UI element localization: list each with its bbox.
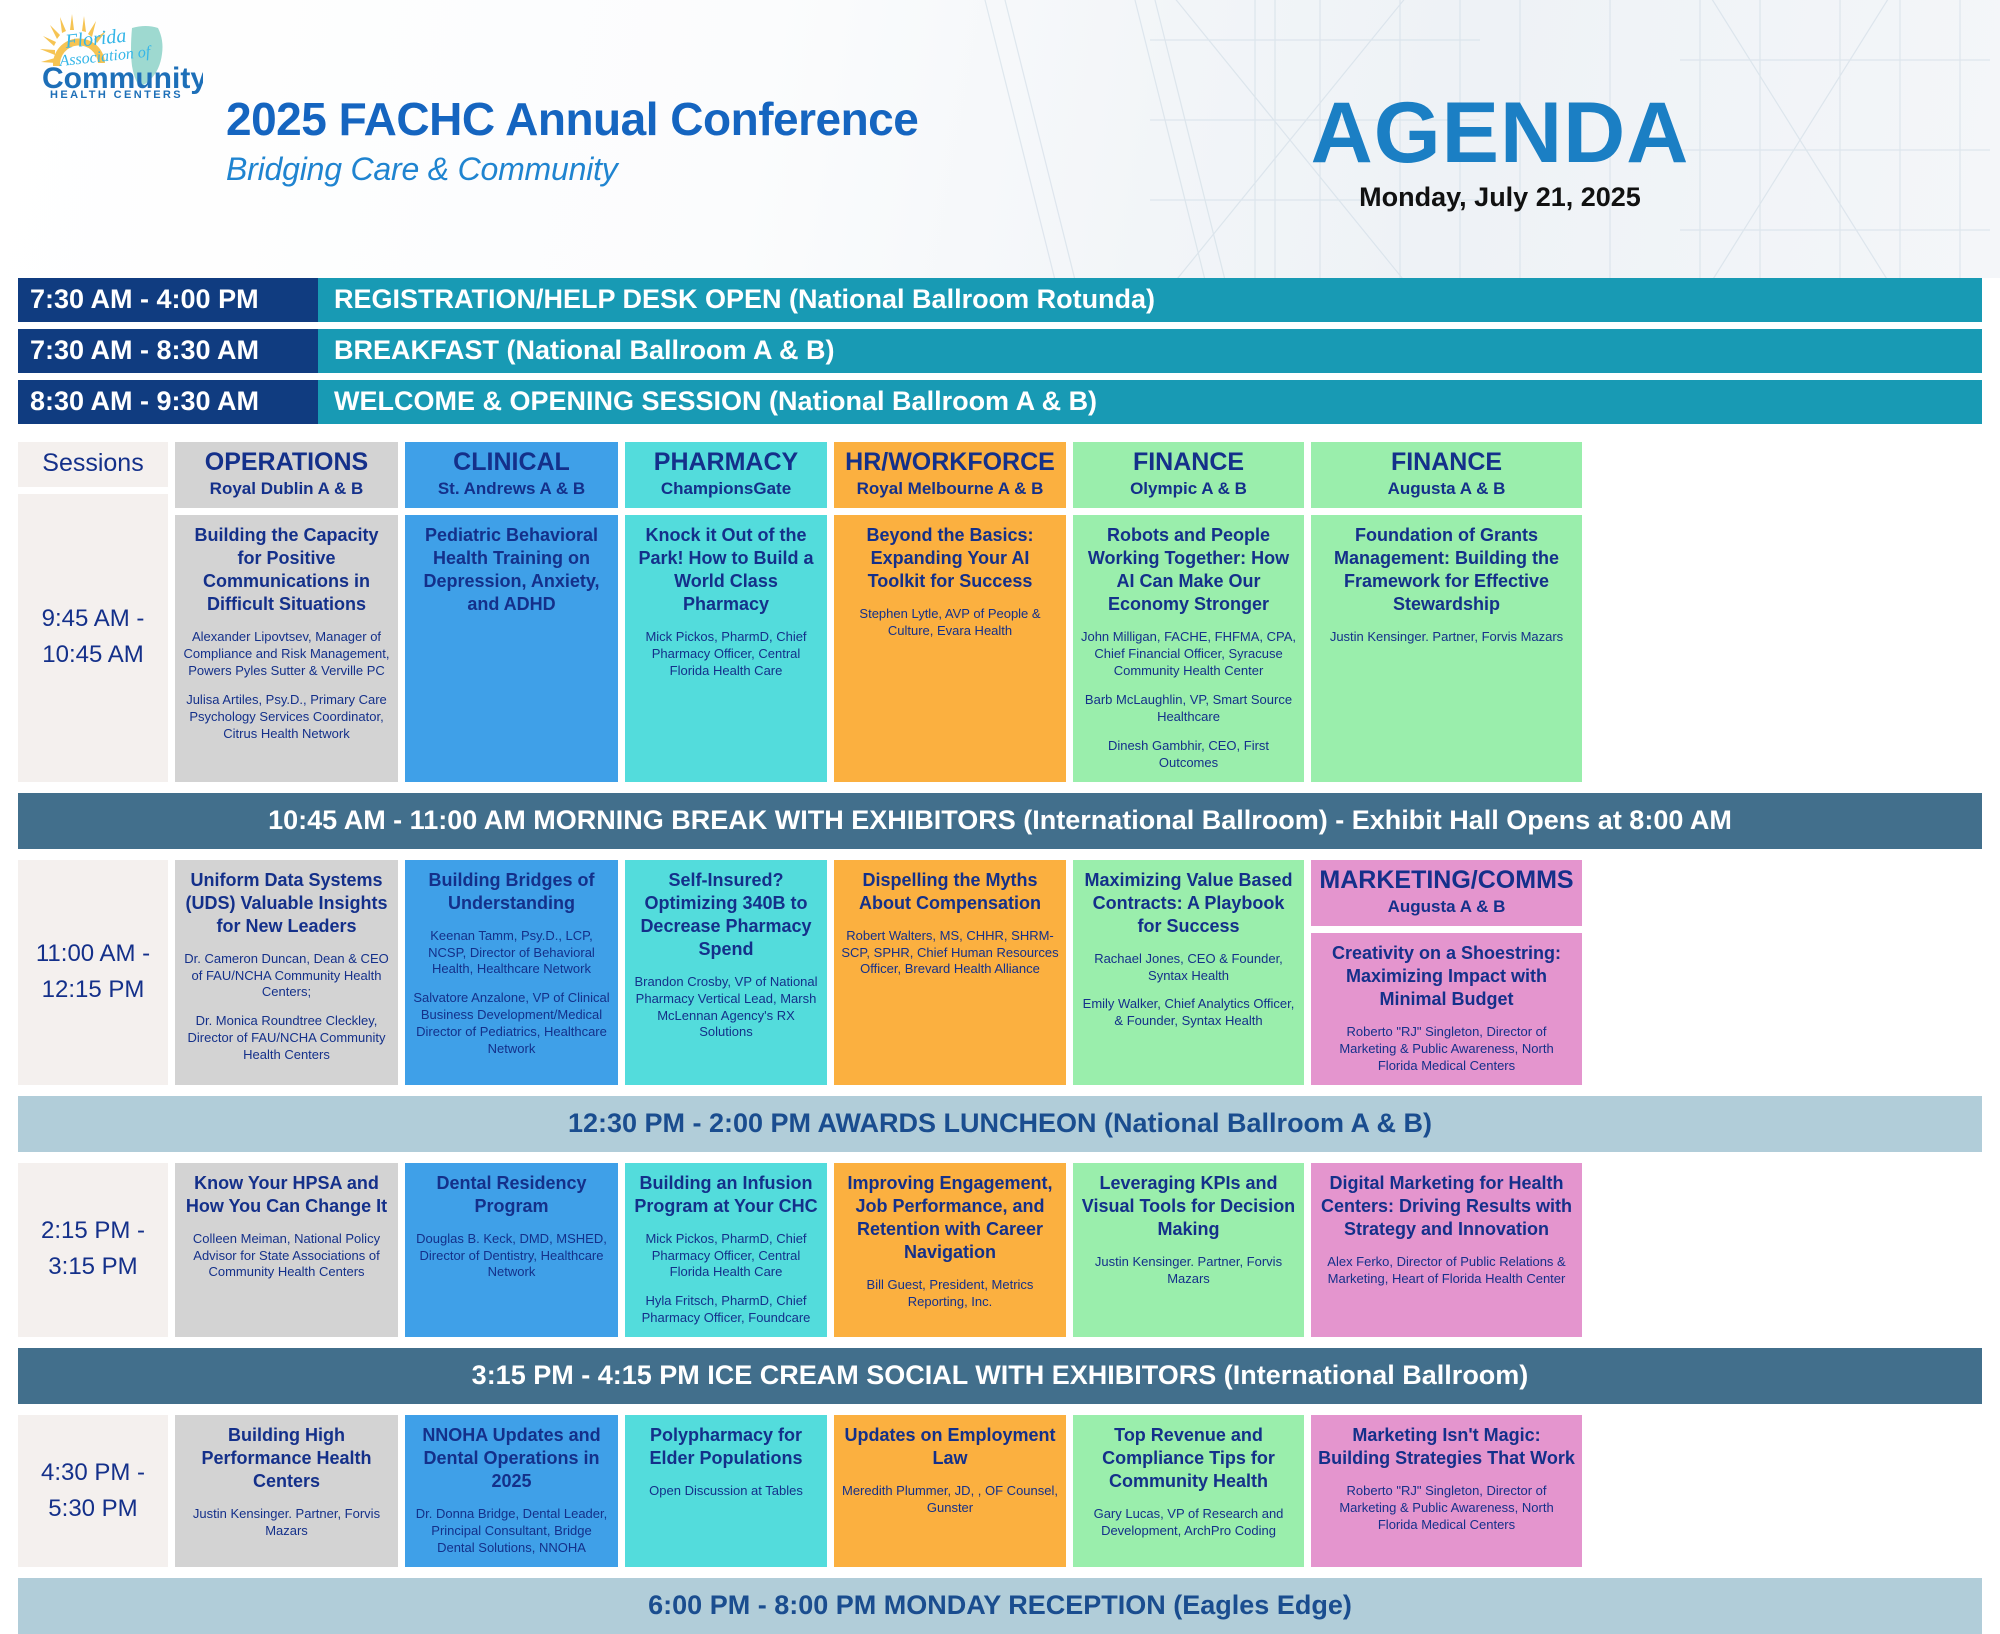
time-slot-1: 9:45 AM - 10:45 AM [18,494,168,782]
session-speaker: Dr. Monica Roundtree Cleckley, Director … [182,1013,391,1064]
session-title: Pediatric Behavioral Health Training on … [412,524,611,616]
track-name: PHARMACY [629,449,823,475]
page-header: Florida Association of Community HEALTH … [0,0,2000,278]
session-card[interactable]: Knock it Out of the Park! How to Build a… [625,515,827,781]
track-name: HR/WORKFORCE [838,449,1062,475]
time-slot-2: 11:00 AM - 12:15 PM [18,860,168,1085]
time-line-1: 4:30 PM - [41,1455,145,1491]
session-speaker: Roberto "RJ" Singleton, Director of Mark… [1318,1483,1575,1534]
track-header-finance-augusta: FINANCE Augusta A & B [1311,442,1582,508]
session-speaker: Colleen Meiman, National Policy Advisor … [182,1231,391,1282]
awards-luncheon-bar: 12:30 PM - 2:00 PM AWARDS LUNCHEON (Nati… [18,1096,1982,1152]
session-speaker: Justin Kensinger. Partner, Forvis Mazars [1318,629,1575,646]
session-speaker: Brandon Crosby, VP of National Pharmacy … [632,974,820,1042]
session-grid-row-4: 4:30 PM - 5:30 PM Building High Performa… [18,1415,1982,1567]
session-speaker: Open Discussion at Tables [632,1483,820,1500]
monday-reception-bar: 6:00 PM - 8:00 PM MONDAY RECEPTION (Eagl… [18,1578,1982,1634]
session-speaker: Stephen Lytle, AVP of People & Culture, … [841,606,1059,640]
session-speaker: Meredith Plummer, JD, , OF Counsel, Guns… [841,1483,1059,1517]
time-slot-3: 2:15 PM - 3:15 PM [18,1163,168,1338]
session-speaker: Mick Pickos, PharmD, Chief Pharmacy Offi… [632,629,820,680]
conference-title: 2025 FACHC Annual Conference [226,95,918,143]
event-bar-registration: 7:30 AM - 4:00 PM REGISTRATION/HELP DESK… [18,278,1982,322]
session-speaker: Alex Ferko, Director of Public Relations… [1318,1254,1575,1288]
session-title: Updates on Employment Law [841,1424,1059,1470]
session-card[interactable]: Beyond the Basics: Expanding Your AI Too… [834,515,1066,781]
time-line-1: 9:45 AM - [42,601,145,637]
session-card[interactable]: Building High Performance Health Centers… [175,1415,398,1567]
fachc-logo: Florida Association of Community HEALTH … [28,8,218,100]
time-line-2: 12:15 PM [42,972,145,1008]
session-title: Self-Insured? Optimizing 340B to Decreas… [632,869,820,961]
session-title: Foundation of Grants Management: Buildin… [1318,524,1575,616]
session-title: Marketing Isn't Magic: Building Strategi… [1318,1424,1575,1470]
event-bar-welcome: 8:30 AM - 9:30 AM WELCOME & OPENING SESS… [18,380,1982,424]
session-card[interactable]: Marketing Isn't Magic: Building Strategi… [1311,1415,1582,1567]
session-card[interactable]: Improving Engagement, Job Performance, a… [834,1163,1066,1338]
fachc-logo-icon: Florida Association of Community HEALTH … [28,8,203,100]
session-speaker: Dr. Cameron Duncan, Dean & CEO of FAU/NC… [182,951,391,1002]
session-speaker: Justin Kensinger. Partner, Forvis Mazars [182,1506,391,1540]
session-speaker: Dr. Donna Bridge, Dental Leader, Princip… [412,1506,611,1557]
track-room: St. Andrews A & B [409,479,614,499]
session-title: NNOHA Updates and Dental Operations in 2… [412,1424,611,1493]
session-title: Robots and People Working Together: How … [1080,524,1297,616]
session-speaker: Mick Pickos, PharmD, Chief Pharmacy Offi… [632,1231,820,1282]
ice-cream-social-bar: 3:15 PM - 4:15 PM ICE CREAM SOCIAL WITH … [18,1348,1982,1404]
track-name: FINANCE [1077,449,1300,475]
track-room: Royal Melbourne A & B [838,479,1062,499]
event-time: 7:30 AM - 4:00 PM [18,278,318,322]
track-room: Augusta A & B [1315,897,1578,917]
session-card[interactable]: Dental Residency Program Douglas B. Keck… [405,1163,618,1338]
session-speaker: Rachael Jones, CEO & Founder, Syntax Hea… [1080,951,1297,985]
time-line-1: 2:15 PM - [41,1213,145,1249]
session-speaker: Emily Walker, Chief Analytics Officer, &… [1080,996,1297,1030]
time-line-2: 3:15 PM [48,1249,137,1285]
session-card[interactable]: Robots and People Working Together: How … [1073,515,1304,781]
track-room: Olympic A & B [1077,479,1300,499]
session-card[interactable]: Top Revenue and Compliance Tips for Comm… [1073,1415,1304,1567]
session-speaker: Robert Walters, MS, CHHR, SHRM-SCP, SPHR… [841,928,1059,979]
session-card[interactable]: Building Bridges of Understanding Keenan… [405,860,618,1085]
track-header-hr-workforce: HR/WORKFORCE Royal Melbourne A & B [834,442,1066,508]
sessions-column-label: Sessions [18,442,168,487]
session-title: Polypharmacy for Elder Populations [632,1424,820,1470]
session-card[interactable]: Creativity on a Shoestring: Maximizing I… [1311,933,1582,1085]
agenda-heading-block: AGENDA Monday, July 21, 2025 [1000,90,2000,213]
track-header-finance-olympic: FINANCE Olympic A & B [1073,442,1304,508]
track-room: Royal Dublin A & B [179,479,394,499]
time-line-2: 10:45 AM [42,637,143,673]
event-bar-breakfast: 7:30 AM - 8:30 AM BREAKFAST (National Ba… [18,329,1982,373]
session-speaker: Douglas B. Keck, DMD, MSHED, Director of… [412,1231,611,1282]
track-header-marketing-comms: MARKETING/COMMS Augusta A & B [1311,860,1582,926]
session-speaker: Justin Kensinger. Partner, Forvis Mazars [1080,1254,1297,1288]
track-header-pharmacy: PHARMACY ChampionsGate [625,442,827,508]
session-card[interactable]: Uniform Data Systems (UDS) Valuable Insi… [175,860,398,1085]
session-title: Top Revenue and Compliance Tips for Comm… [1080,1424,1297,1493]
session-speaker: John Milligan, FACHE, FHFMA, CPA, Chief … [1080,629,1297,680]
session-title: Building Bridges of Understanding [412,869,611,915]
track-header-clinical: CLINICAL St. Andrews A & B [405,442,618,508]
session-speaker: Roberto "RJ" Singleton, Director of Mark… [1318,1024,1575,1075]
session-card[interactable]: Dispelling the Myths About Compensation … [834,860,1066,1085]
session-title: Knock it Out of the Park! How to Build a… [632,524,820,616]
session-card[interactable]: Updates on Employment Law Meredith Plumm… [834,1415,1066,1567]
session-grid-row-2: 11:00 AM - 12:15 PM Uniform Data Systems… [18,860,1982,1085]
session-title: Maximizing Value Based Contracts: A Play… [1080,869,1297,938]
session-title: Leveraging KPIs and Visual Tools for Dec… [1080,1172,1297,1241]
event-label: WELCOME & OPENING SESSION (National Ball… [318,380,1982,424]
session-speaker: Hyla Fritsch, PharmD, Chief Pharmacy Off… [632,1293,820,1327]
session-title: Dental Residency Program [412,1172,611,1218]
morning-break-bar: 10:45 AM - 11:00 AM MORNING BREAK WITH E… [18,793,1982,849]
session-title: Know Your HPSA and How You Can Change It [182,1172,391,1218]
event-time: 7:30 AM - 8:30 AM [18,329,318,373]
session-speaker: Salvatore Anzalone, VP of Clinical Busin… [412,990,611,1058]
session-speaker: Keenan Tamm, Psy.D., LCP, NCSP, Director… [412,928,611,979]
session-speaker: Alexander Lipovtsev, Manager of Complian… [182,629,391,680]
track-name: OPERATIONS [179,449,394,475]
session-title: Digital Marketing for Health Centers: Dr… [1318,1172,1575,1241]
session-title: Building the Capacity for Positive Commu… [182,524,391,616]
track-name: CLINICAL [409,449,614,475]
track-name: FINANCE [1315,449,1578,475]
session-card[interactable]: NNOHA Updates and Dental Operations in 2… [405,1415,618,1567]
time-slot-4: 4:30 PM - 5:30 PM [18,1415,168,1567]
title-block: 2025 FACHC Annual Conference Bridging Ca… [226,95,918,188]
agenda-page: Florida Association of Community HEALTH … [0,0,2000,1545]
session-card[interactable]: Digital Marketing for Health Centers: Dr… [1311,1163,1582,1338]
session-title: Building High Performance Health Centers [182,1424,391,1493]
session-title: Building an Infusion Program at Your CHC [632,1172,820,1218]
track-room: ChampionsGate [629,479,823,499]
session-card[interactable]: Building the Capacity for Positive Commu… [175,515,398,781]
time-line-1: 11:00 AM - [36,936,150,972]
session-card[interactable]: Building an Infusion Program at Your CHC… [625,1163,827,1338]
session-card[interactable]: Pediatric Behavioral Health Training on … [405,515,618,781]
track-room: Augusta A & B [1315,479,1578,499]
session-grid-row-1: Sessions 9:45 AM - 10:45 AM OPERATIONS R… [18,442,1982,782]
agenda-date: Monday, July 21, 2025 [1000,182,2000,213]
track-header-operations: OPERATIONS Royal Dublin A & B [175,442,398,508]
session-speaker: Dinesh Gambhir, CEO, First Outcomes [1080,738,1297,772]
session-speaker: Barb McLaughlin, VP, Smart Source Health… [1080,692,1297,726]
session-card[interactable]: Leveraging KPIs and Visual Tools for Dec… [1073,1163,1304,1338]
session-grid-row-3: 2:15 PM - 3:15 PM Know Your HPSA and How… [18,1163,1982,1338]
session-card[interactable]: Self-Insured? Optimizing 340B to Decreas… [625,860,827,1085]
session-title: Dispelling the Myths About Compensation [841,869,1059,915]
session-card[interactable]: Maximizing Value Based Contracts: A Play… [1073,860,1304,1085]
session-card[interactable]: Foundation of Grants Management: Buildin… [1311,515,1582,781]
event-time: 8:30 AM - 9:30 AM [18,380,318,424]
session-title: Improving Engagement, Job Performance, a… [841,1172,1059,1264]
session-card[interactable]: Polypharmacy for Elder Populations Open … [625,1415,827,1567]
session-title: Beyond the Basics: Expanding Your AI Too… [841,524,1059,593]
session-card[interactable]: Know Your HPSA and How You Can Change It… [175,1163,398,1338]
time-line-2: 5:30 PM [48,1491,137,1527]
conference-subtitle: Bridging Care & Community [226,151,918,188]
agenda-word: AGENDA [1000,90,2000,176]
session-title: Creativity on a Shoestring: Maximizing I… [1318,942,1575,1011]
event-label: REGISTRATION/HELP DESK OPEN (National Ba… [318,278,1982,322]
session-speaker: Bill Guest, President, Metrics Reporting… [841,1277,1059,1311]
session-speaker: Gary Lucas, VP of Research and Developme… [1080,1506,1297,1540]
track-name: MARKETING/COMMS [1315,867,1578,893]
session-title: Uniform Data Systems (UDS) Valuable Insi… [182,869,391,938]
svg-text:HEALTH CENTERS: HEALTH CENTERS [50,89,183,100]
session-speaker: Julisa Artiles, Psy.D., Primary Care Psy… [182,692,391,743]
event-label: BREAKFAST (National Ballroom A & B) [318,329,1982,373]
